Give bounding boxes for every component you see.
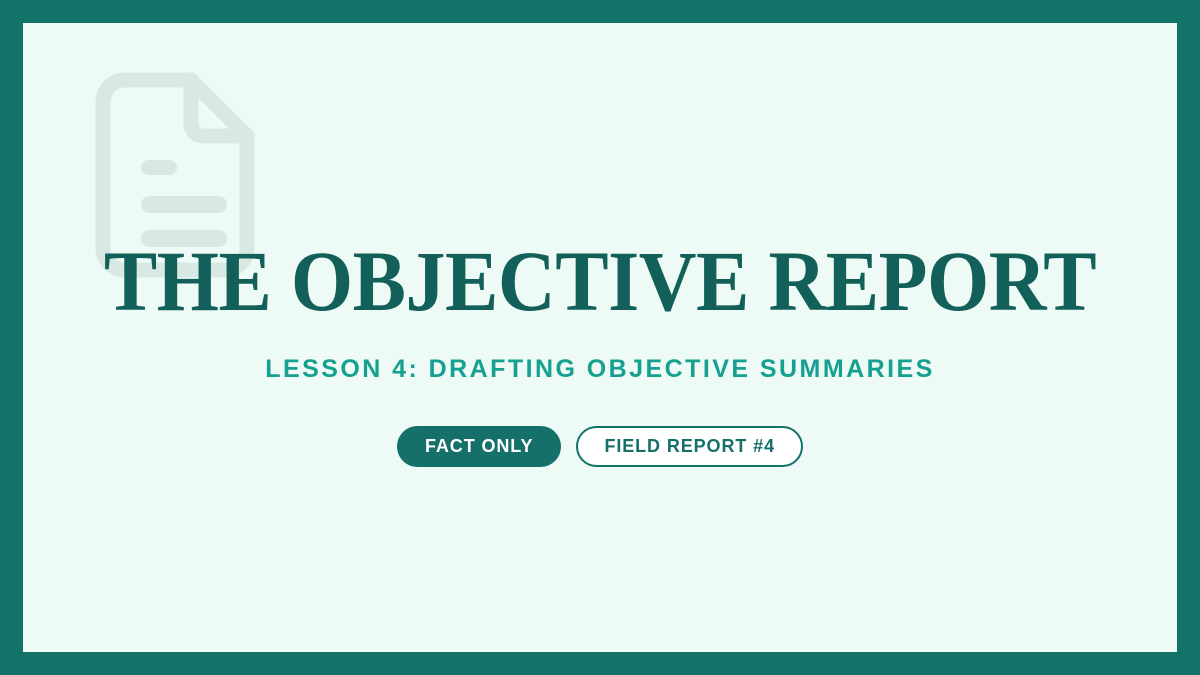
page-title: THE OBJECTIVE REPORT xyxy=(63,238,1136,324)
slide-content: THE OBJECTIVE REPORT LESSON 4: DRAFTING … xyxy=(23,23,1177,652)
status-badge-field-report: FIELD REPORT #4 xyxy=(576,426,803,467)
slide-canvas: THE OBJECTIVE REPORT LESSON 4: DRAFTING … xyxy=(0,0,1200,675)
status-badge-fact-only: FACT ONLY xyxy=(397,426,561,467)
badge-group: FACT ONLY FIELD REPORT #4 xyxy=(23,426,1177,467)
lesson-subtitle: LESSON 4: DRAFTING OBJECTIVE SUMMARIES xyxy=(23,354,1177,384)
